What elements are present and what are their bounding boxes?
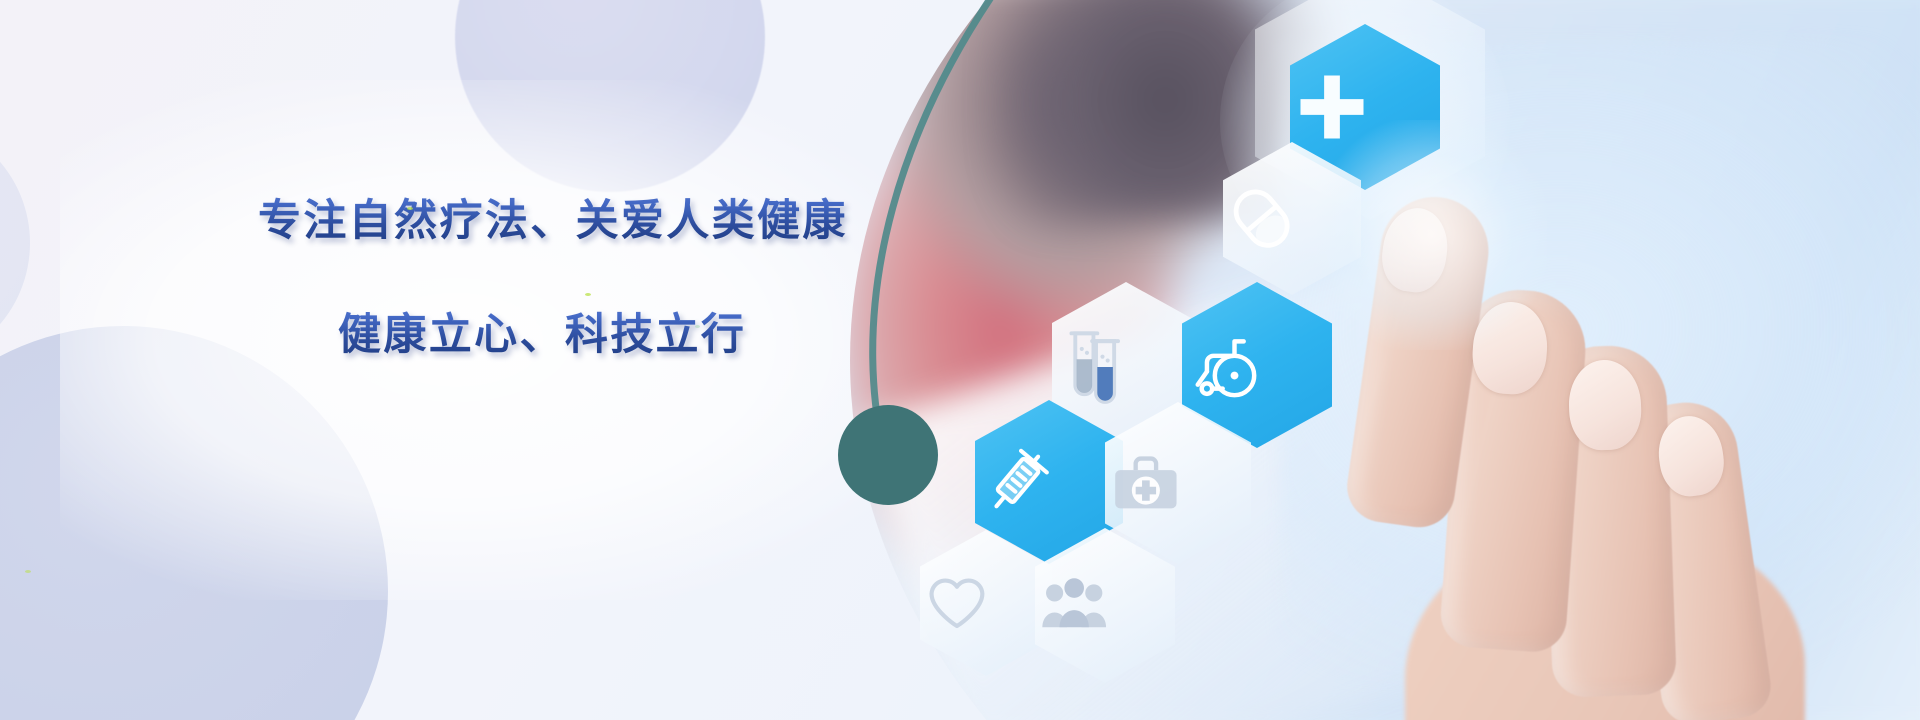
family-people-icon xyxy=(1035,566,1175,644)
medical-hexagon-cluster xyxy=(900,0,1600,720)
syringe-icon xyxy=(975,441,1123,524)
headline-line-2: 健康立心、科技立行 xyxy=(338,300,746,362)
sparkle-dot xyxy=(407,207,413,210)
medical-cross-icon xyxy=(1290,65,1440,149)
sparkle-dot xyxy=(695,325,700,328)
sparkle-dot xyxy=(585,293,591,296)
sparkle-dot xyxy=(25,570,31,573)
heart-icon xyxy=(920,566,1052,640)
headline-line-1: 专注自然疗法、关爱人类健康 xyxy=(258,186,848,248)
hero-banner: 专注自然疗法、关爱人类健康 健康立心、科技立行 xyxy=(0,0,1920,720)
wheelchair-icon xyxy=(1182,323,1332,407)
headline-block: 专注自然疗法、关爱人类健康 健康立心、科技立行 xyxy=(0,0,900,720)
capsule-pill-icon xyxy=(1223,180,1361,257)
test-tubes-icon xyxy=(1052,323,1200,406)
first-aid-kit-icon xyxy=(1105,442,1251,524)
